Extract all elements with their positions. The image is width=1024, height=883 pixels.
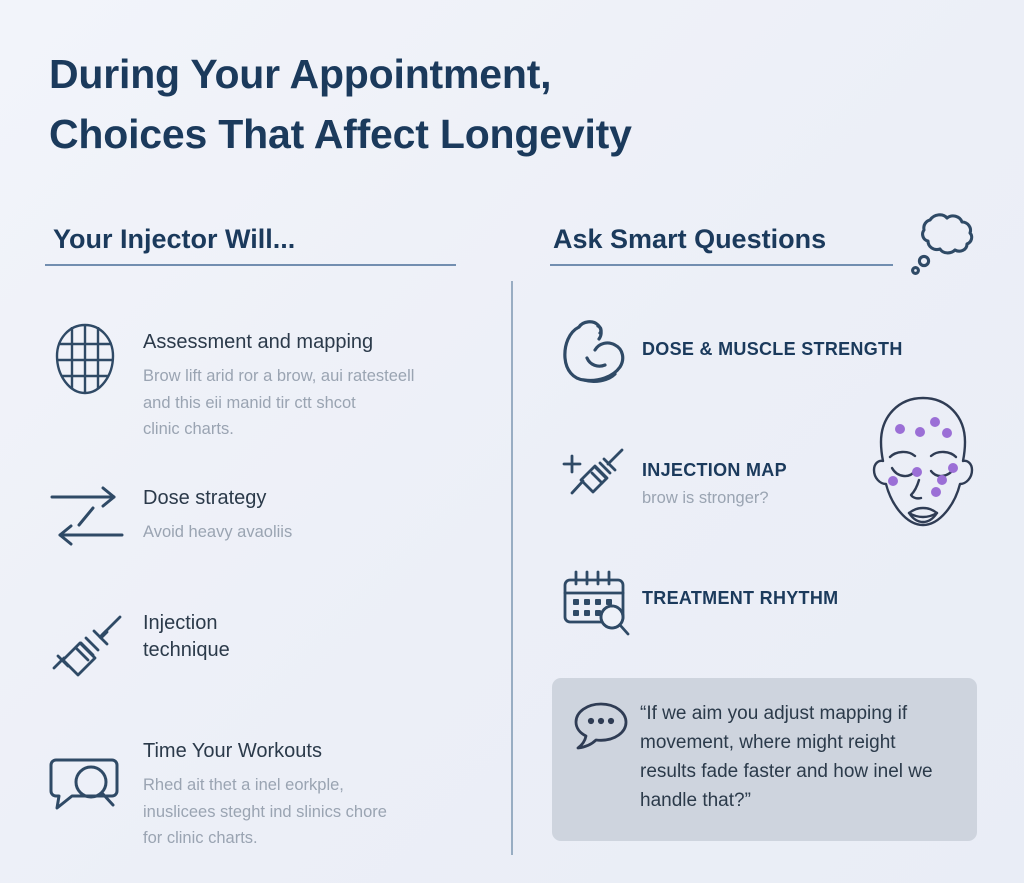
left-item-dose-strategy: Dose strategy Avoid heavy avaoliis (143, 485, 453, 546)
speech-bubble-dots-icon (572, 700, 630, 752)
right-item-dose-muscle-strength: DOSE & MUSCLE STRENGTH (642, 339, 942, 365)
calendar-search-icon (560, 568, 632, 636)
left-item-desc: Avoid heavy avaoliis (143, 519, 453, 546)
page-title-line-1: During Your Appointment, (49, 44, 829, 104)
patient-question-quote-card: “If we aim you adjust mapping if movemen… (552, 678, 977, 841)
left-column-heading: Your Injector Will... (53, 224, 295, 255)
injection-syringe-plus-icon (560, 446, 630, 508)
right-heading-rule (550, 264, 893, 266)
chat-search-icon (48, 752, 124, 818)
left-item-desc: Brow lift arid ror a brow, aui ratesteel… (143, 363, 453, 443)
right-item-title: DOSE & MUSCLE STRENGTH (642, 339, 942, 360)
right-item-title: TREATMENT RHYTHM (642, 588, 942, 609)
thought-bubble-icon (903, 206, 981, 284)
right-item-treatment-rhythm: TREATMENT RHYTHM (642, 588, 942, 614)
left-item-title: Time Your Workouts (143, 738, 453, 765)
left-item-title: Assessment and mapping (143, 329, 453, 356)
dose-exchange-arrows-icon (48, 484, 126, 548)
face-injection-map-diagram (857, 392, 989, 552)
left-item-title: Dose strategy (143, 485, 453, 512)
left-item-time-workouts: Time Your Workouts Rhed ait thet a inel … (143, 738, 453, 852)
quote-text: “If we aim you adjust mapping if movemen… (640, 700, 950, 816)
left-item-title: Injection technique (143, 610, 453, 664)
flexed-bicep-icon (558, 317, 628, 385)
page-title: During Your Appointment, Choices That Af… (49, 44, 829, 165)
infographic-page: During Your Appointment, Choices That Af… (0, 0, 1024, 883)
syringe-icon (50, 612, 126, 686)
right-column-heading: Ask Smart Questions (553, 224, 826, 255)
left-heading-rule (45, 264, 456, 266)
left-item-desc: Rhed ait thet a inel eorkple, inuslicees… (143, 772, 453, 852)
left-item-injection-technique: Injection technique (143, 610, 453, 671)
column-divider (511, 281, 513, 855)
face-mapping-grid-icon (52, 322, 118, 396)
page-title-line-2: Choices That Affect Longevity (49, 104, 829, 164)
left-item-assessment: Assessment and mapping Brow lift arid ro… (143, 329, 453, 443)
